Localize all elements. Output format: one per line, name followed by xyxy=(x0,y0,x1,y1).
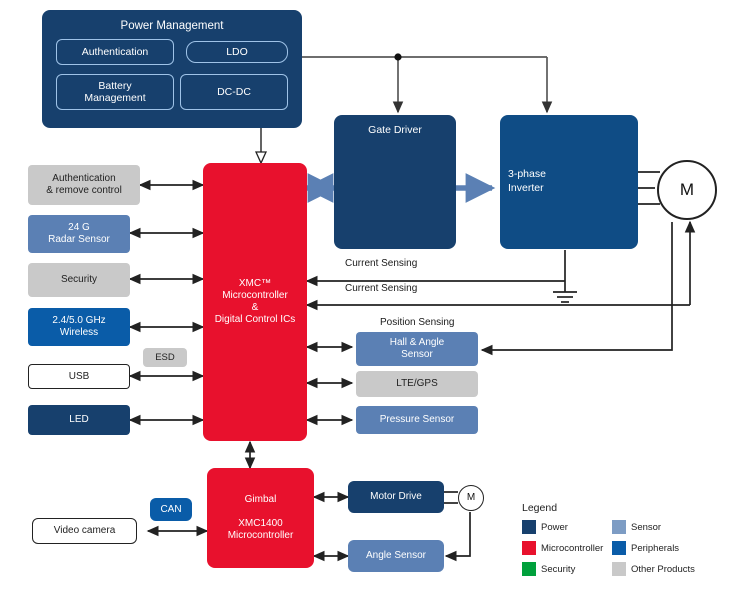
legend-swatch-microcontroller xyxy=(522,541,536,555)
main-motor-symbol: M xyxy=(657,160,717,220)
gimbal-line-3: Microcontroller xyxy=(228,530,294,542)
left-block-radar-sensor[interactable]: 24 G Radar Sensor xyxy=(28,215,130,253)
pm-dcdc-block[interactable]: DC-DC xyxy=(180,74,288,110)
mcu-line-2: Microcontroller xyxy=(222,290,288,302)
power-management-block[interactable]: Power Management xyxy=(42,10,302,128)
left-block-usb[interactable]: USB xyxy=(28,364,130,389)
legend-label-peripherals: Peripherals xyxy=(631,543,679,554)
video-camera-block[interactable]: Video camera xyxy=(32,518,137,544)
left-block-led[interactable]: LED xyxy=(28,405,130,435)
pm-ldo-block[interactable]: LDO xyxy=(186,41,288,63)
legend-title: Legend xyxy=(522,502,557,514)
can-block[interactable]: CAN xyxy=(150,498,192,521)
gimbal-motor-symbol: M xyxy=(458,485,484,511)
angle-sensor-block[interactable]: Angle Sensor xyxy=(348,540,444,572)
legend-swatch-other-products xyxy=(612,562,626,576)
legend-swatch-sensor xyxy=(612,520,626,534)
legend-label-microcontroller: Microcontroller xyxy=(541,543,603,554)
left-block-security[interactable]: Security xyxy=(28,263,130,297)
gimbal-line-1: Gimbal xyxy=(245,494,277,506)
mcu-line-1: XMC™ xyxy=(239,278,271,290)
legend-swatch-security xyxy=(522,562,536,576)
diagram-canvas: Power Management Authentication LDO Batt… xyxy=(0,0,730,589)
pm-authentication-block[interactable]: Authentication xyxy=(56,39,174,65)
current-sensing-label-1: Current Sensing xyxy=(345,258,417,270)
gimbal-line-2: XMC1400 xyxy=(238,518,282,530)
legend-label-security: Security xyxy=(541,564,575,575)
legend-label-power: Power xyxy=(541,522,568,533)
three-phase-inverter-block[interactable]: 3-phaseInverter xyxy=(500,115,638,249)
inverter-label: 3-phaseInverter xyxy=(508,168,546,195)
lte-gps-block[interactable]: LTE/GPS xyxy=(356,371,478,397)
pressure-sensor-block[interactable]: Pressure Sensor xyxy=(356,406,478,434)
gate-driver-label: Gate Driver xyxy=(368,124,422,136)
gimbal-block[interactable]: Gimbal XMC1400 Microcontroller xyxy=(207,468,314,568)
left-block-authentication-remove-control[interactable]: Authentication & remove control xyxy=(28,165,140,205)
current-sensing-label-2: Current Sensing xyxy=(345,283,417,295)
mcu-line-4: Digital Control ICs xyxy=(215,314,296,326)
legend-swatch-power xyxy=(522,520,536,534)
hall-angle-sensor-block[interactable]: Hall & Angle Sensor xyxy=(356,332,478,366)
left-block-wireless[interactable]: 2.4/5.0 GHz Wireless xyxy=(28,308,130,346)
gate-driver-block[interactable]: Gate Driver xyxy=(334,115,456,249)
esd-block[interactable]: ESD xyxy=(143,348,187,367)
mcu-line-3: & xyxy=(252,302,259,314)
legend-label-other-products: Other Products xyxy=(631,564,695,575)
motor-drive-block[interactable]: Motor Drive xyxy=(348,481,444,513)
position-sensing-title: Position Sensing xyxy=(380,317,455,329)
legend-label-sensor: Sensor xyxy=(631,522,661,533)
power-management-title: Power Management xyxy=(121,20,224,34)
legend-swatch-peripherals xyxy=(612,541,626,555)
xmc-microcontroller-block[interactable]: XMC™ Microcontroller & Digital Control I… xyxy=(203,163,307,441)
pm-battery-management-block[interactable]: Battery Management xyxy=(56,74,174,110)
